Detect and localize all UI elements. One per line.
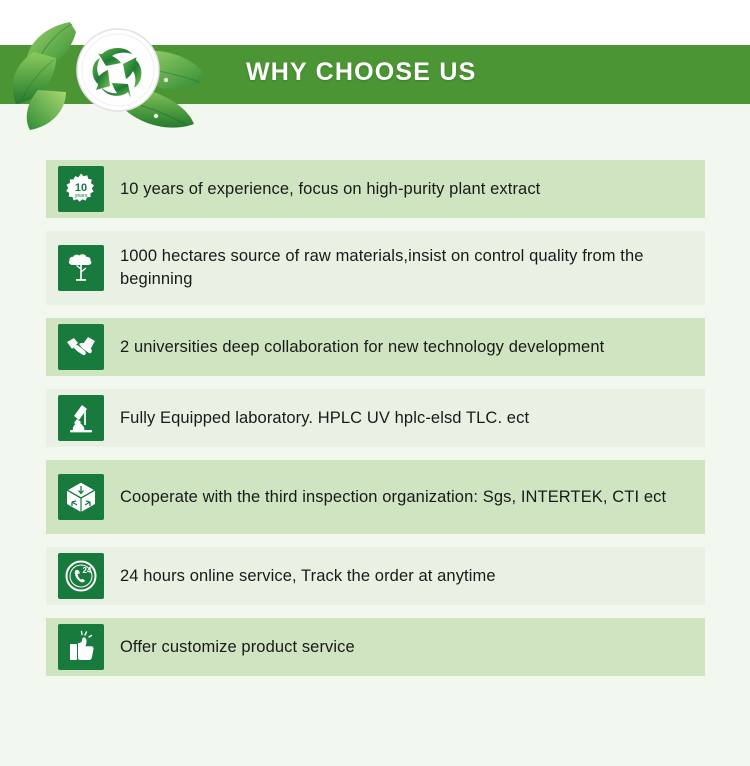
- tree-icon: [58, 245, 104, 291]
- thumbs-up-icon: [58, 624, 104, 670]
- list-item[interactable]: Fully Equipped laboratory. HPLC UV hplc-…: [46, 389, 705, 447]
- feature-text: 1000 hectares source of raw materials,in…: [120, 245, 695, 291]
- list-item[interactable]: 2 universities deep collaboration for ne…: [46, 318, 705, 376]
- list-item[interactable]: Offer customize product service: [46, 618, 705, 676]
- list-item[interactable]: 24 24 hours online service, Track the or…: [46, 547, 705, 605]
- leaf-recycle-emblem-icon: [10, 8, 225, 133]
- feature-text: 24 hours online service, Track the order…: [120, 565, 496, 588]
- svg-text:years: years: [75, 193, 88, 199]
- ten-years-badge-icon: 10 years: [58, 166, 104, 212]
- feature-text: Cooperate with the third inspection orga…: [120, 486, 666, 509]
- support-hours-label: 24: [83, 566, 92, 575]
- feature-text: Offer customize product service: [120, 636, 355, 659]
- microscope-icon: [58, 395, 104, 441]
- 24-hour-support-icon: 24: [58, 553, 104, 599]
- company-logo: [10, 8, 225, 133]
- list-item[interactable]: Cooperate with the third inspection orga…: [46, 460, 705, 534]
- list-item[interactable]: 10 years 10 years of experience, focus o…: [46, 160, 705, 218]
- why-choose-us-page: WHY CHOOSE US: [0, 0, 750, 766]
- page-title: WHY CHOOSE US: [246, 58, 476, 87]
- feature-list: 10 years 10 years of experience, focus o…: [46, 160, 705, 689]
- inspection-cube-icon: [58, 474, 104, 520]
- feature-text: Fully Equipped laboratory. HPLC UV hplc-…: [120, 407, 529, 430]
- feature-text: 2 universities deep collaboration for ne…: [120, 336, 604, 359]
- feature-text: 10 years of experience, focus on high-pu…: [120, 178, 540, 201]
- handshake-icon: [58, 324, 104, 370]
- list-item[interactable]: 1000 hectares source of raw materials,in…: [46, 231, 705, 305]
